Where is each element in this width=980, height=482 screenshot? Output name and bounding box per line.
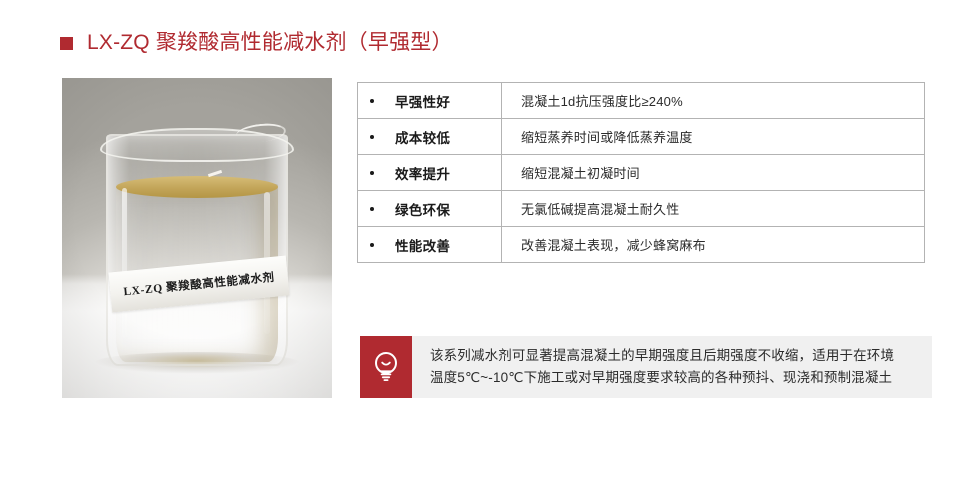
product-photo: LX-ZQ 聚羧酸高性能减水剂 [62,78,332,398]
page-title: LX-ZQ 聚羧酸高性能减水剂（早强型） [87,30,453,56]
feature-term: 早强性好 [395,91,450,111]
photo-vignette [62,78,332,398]
feature-description: 混凝土1d抗压强度比≥240% [502,83,925,119]
table-row: 性能改善 改善混凝土表现，减少蜂窝麻布 [358,227,925,263]
bullet-dot-icon [370,207,374,211]
bullet-dot-icon [370,135,374,139]
callout-line-1: 该系列减水剂可显著提高混凝土的早期强度且后期强度不收缩，适用于在环境 [430,345,926,367]
feature-term: 性能改善 [395,235,450,255]
feature-description: 改善混凝土表现，减少蜂窝麻布 [502,227,925,263]
bullet-dot-icon [370,243,374,247]
callout-banner: 该系列减水剂可显著提高混凝土的早期强度且后期强度不收缩，适用于在环境 温度5℃~… [360,336,932,398]
feature-term: 成本较低 [395,127,450,147]
feature-term: 效率提升 [395,163,450,183]
table-cell-term: 绿色环保 [358,191,502,227]
table-row: 效率提升 缩短混凝土初凝时间 [358,155,925,191]
lightbulb-icon [372,350,400,384]
callout-line-2: 温度5℃~-10℃下施工或对早期强度要求较高的各种预抖、现浇和预制混凝土 [430,367,926,389]
callout-icon-box [360,336,412,398]
feature-description: 缩短蒸养时间或降低蒸养温度 [502,119,925,155]
table-row: 绿色环保 无氯低碱提高混凝土耐久性 [358,191,925,227]
title-bullet-square [60,37,73,50]
table-cell-term: 成本较低 [358,119,502,155]
page-title-row: LX-ZQ 聚羧酸高性能减水剂（早强型） [60,28,453,58]
bullet-dot-icon [370,99,374,103]
callout-text-block: 该系列减水剂可显著提高混凝土的早期强度且后期强度不收缩，适用于在环境 温度5℃~… [412,336,932,398]
feature-description: 缩短混凝土初凝时间 [502,155,925,191]
table-cell-term: 效率提升 [358,155,502,191]
table-row: 成本较低 缩短蒸养时间或降低蒸养温度 [358,119,925,155]
feature-table: 早强性好 混凝土1d抗压强度比≥240% 成本较低 缩短蒸养时间或降低蒸养温度 … [357,82,925,263]
feature-description: 无氯低碱提高混凝土耐久性 [502,191,925,227]
table-cell-term: 早强性好 [358,83,502,119]
bullet-dot-icon [370,171,374,175]
table-cell-term: 性能改善 [358,227,502,263]
table-row: 早强性好 混凝土1d抗压强度比≥240% [358,83,925,119]
feature-term: 绿色环保 [395,199,450,219]
